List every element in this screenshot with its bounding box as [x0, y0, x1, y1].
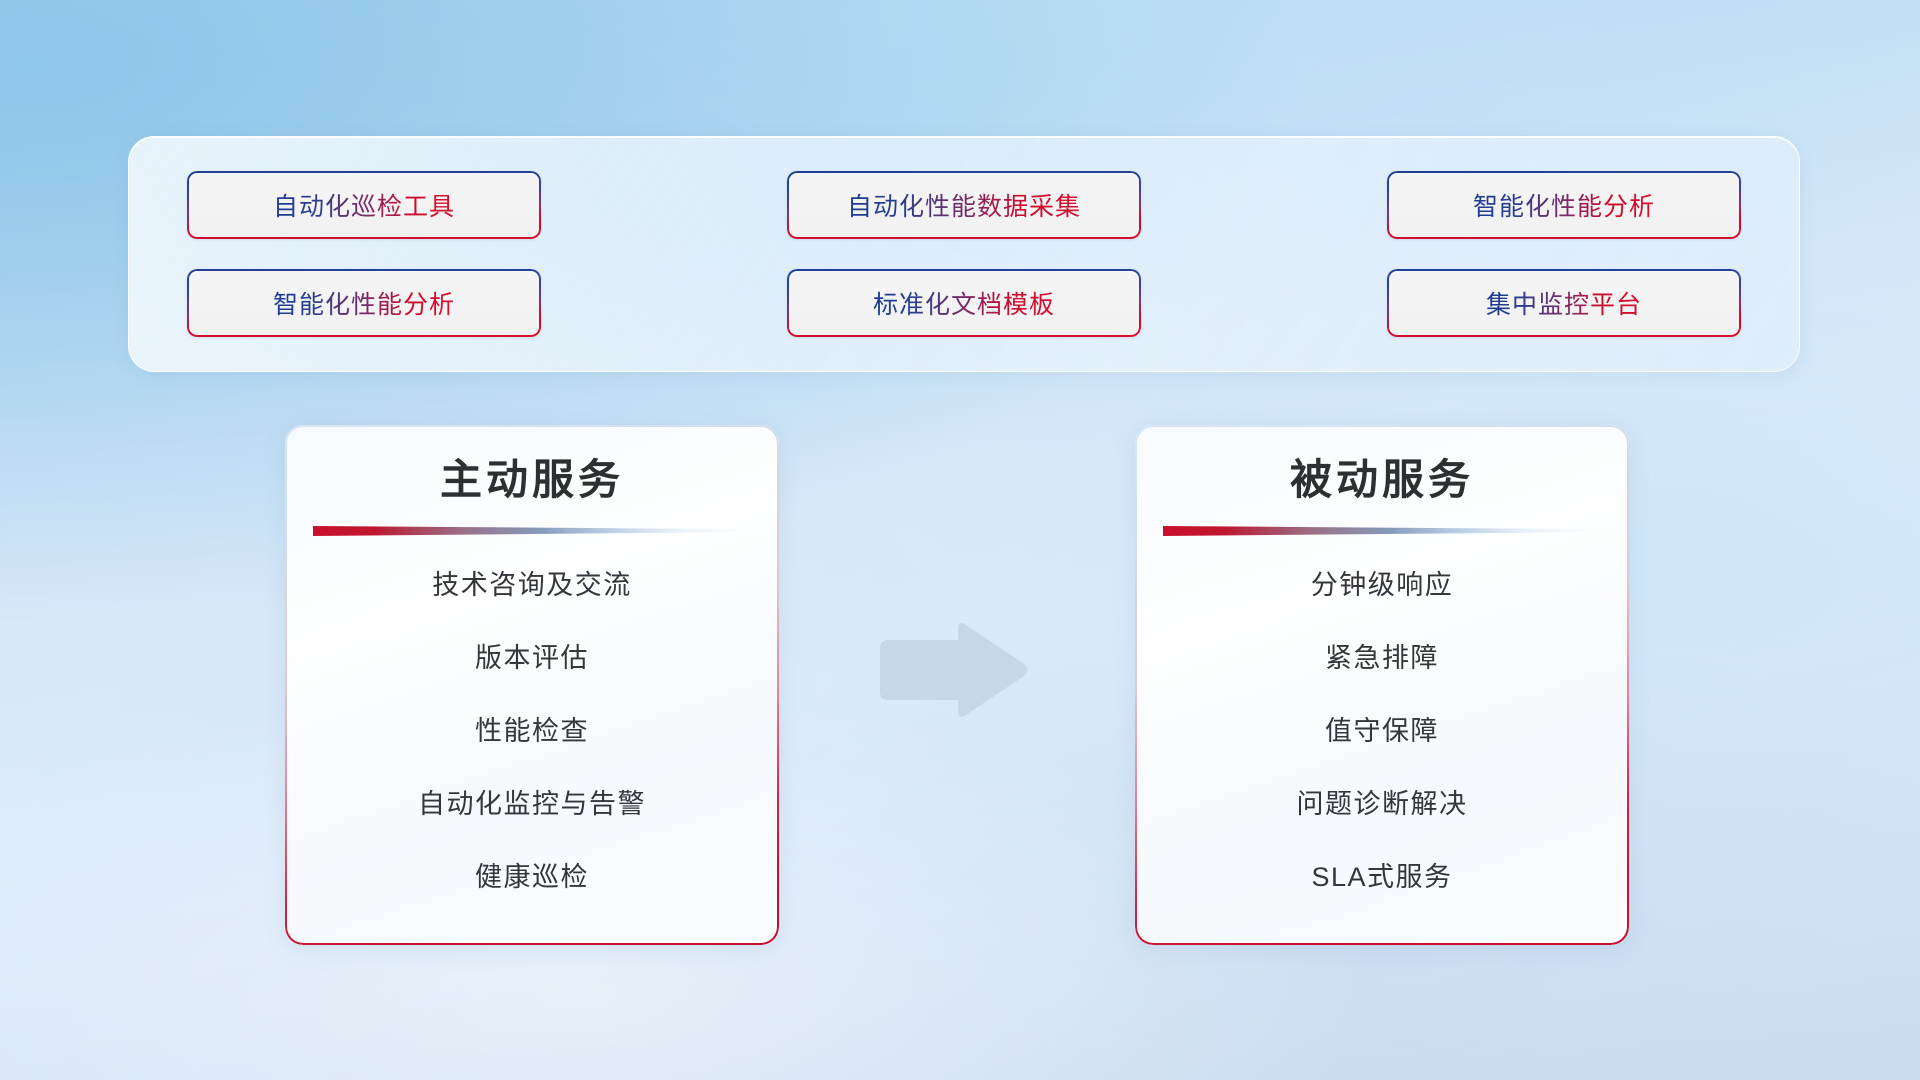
capability-pill-label: 智能化性能分析: [1473, 187, 1655, 223]
service-card-passive[interactable]: 被动服务 分钟级响应 紧急排障: [1135, 425, 1629, 945]
capability-row-2: 智能化性能分析 标准化文档模板 集中监控平台: [187, 269, 1741, 337]
capability-pill[interactable]: 标准化文档模板: [787, 269, 1141, 337]
capability-pill[interactable]: 自动化性能数据采集: [787, 171, 1141, 239]
service-item: 健康巡检: [475, 855, 589, 894]
flow-arrow-right-icon: [872, 620, 1032, 720]
service-item: 问题诊断解决: [1297, 782, 1468, 821]
capability-row-1: 自动化巡检工具 自动化性能数据采集 智能化性能分析: [187, 171, 1741, 239]
service-card-active[interactable]: 主动服务 技术咨询及交流 版本评估: [285, 425, 779, 945]
card-item-list: 分钟级响应 紧急排障 值守保障 问题诊断解决 SLA式服务: [1135, 537, 1629, 945]
service-item: 分钟级响应: [1311, 563, 1454, 602]
capability-pill[interactable]: 集中监控平台: [1387, 269, 1741, 337]
capability-pill[interactable]: 智能化性能分析: [1387, 171, 1741, 239]
service-item: SLA式服务: [1311, 855, 1452, 894]
card-title: 主动服务: [285, 457, 779, 503]
capability-pill-label: 自动化性能数据采集: [847, 187, 1081, 223]
capability-pill-label: 集中监控平台: [1486, 285, 1642, 321]
capability-pill[interactable]: 智能化性能分析: [187, 269, 541, 337]
capabilities-panel: 自动化巡检工具 自动化性能数据采集 智能化性能分析 智能化性能分析 标准化文档模…: [128, 136, 1800, 372]
gradient-wedge-divider: [313, 525, 751, 537]
card-divider-wrap: [1135, 525, 1629, 537]
gradient-wedge-divider: [1163, 525, 1601, 537]
service-item: 值守保障: [1325, 709, 1439, 748]
capability-pill-label: 智能化性能分析: [273, 285, 455, 321]
capability-pill[interactable]: 自动化巡检工具: [187, 171, 541, 239]
service-item: 紧急排障: [1325, 636, 1439, 675]
capability-pill-label: 自动化巡检工具: [273, 187, 455, 223]
card-item-list: 技术咨询及交流 版本评估 性能检查 自动化监控与告警 健康巡检: [285, 537, 779, 945]
card-divider-wrap: [285, 525, 779, 537]
service-item: 技术咨询及交流: [432, 563, 632, 602]
service-item: 版本评估: [475, 636, 589, 675]
service-item: 自动化监控与告警: [418, 782, 646, 821]
service-item: 性能检查: [475, 709, 589, 748]
capability-pill-label: 标准化文档模板: [873, 285, 1055, 321]
card-title: 被动服务: [1135, 457, 1629, 503]
